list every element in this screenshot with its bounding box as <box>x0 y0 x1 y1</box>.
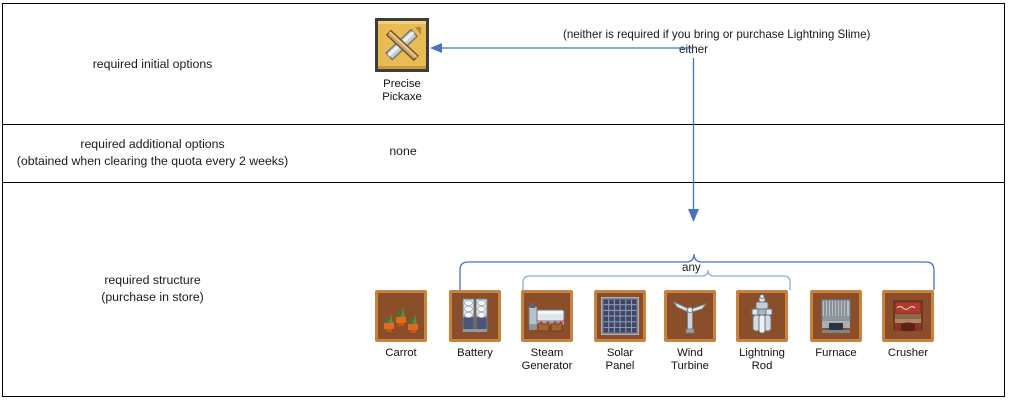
item-carrot[interactable]: Carrot <box>375 290 427 360</box>
precise-pickaxe-icon <box>375 18 429 72</box>
item-label: Wind Turbine <box>664 347 716 373</box>
solar-panel-icon <box>597 293 643 339</box>
lightning-rod-icon <box>739 293 785 339</box>
item-label: Solar Panel <box>594 347 646 373</box>
item-tile <box>810 290 862 342</box>
item-tile <box>736 290 788 342</box>
item-precise-pickaxe[interactable] <box>375 18 429 72</box>
item-label: Lightning Rod <box>736 347 788 373</box>
item-furnace[interactable]: Furnace <box>810 290 862 360</box>
item-steam-generator[interactable]: Steam Generator <box>521 290 573 373</box>
item-label-precise-pickaxe: Precise Pickaxe <box>370 78 434 104</box>
battery-icon <box>452 293 498 339</box>
item-label: Steam Generator <box>521 347 573 373</box>
item-tile <box>521 290 573 342</box>
item-label: Battery <box>449 347 501 360</box>
arrow-head-down <box>688 209 699 222</box>
item-solar-panel[interactable]: Solar Panel <box>594 290 646 373</box>
diagram-canvas: required initial options required additi… <box>0 0 1009 401</box>
item-label: Furnace <box>810 347 862 360</box>
item-label: Crusher <box>882 347 934 360</box>
item-wind-turbine[interactable]: Wind Turbine <box>664 290 716 373</box>
item-tile <box>375 290 427 342</box>
item-battery[interactable]: Battery <box>449 290 501 360</box>
carrot-icon <box>378 293 424 339</box>
item-tile <box>594 290 646 342</box>
item-label: Carrot <box>375 347 427 360</box>
crusher-icon <box>885 293 931 339</box>
item-tile <box>882 290 934 342</box>
arrow-head-left <box>430 43 442 53</box>
furnace-icon <box>813 293 859 339</box>
item-tile <box>449 290 501 342</box>
item-lightning-rod[interactable]: Lightning Rod <box>736 290 788 373</box>
item-tile <box>664 290 716 342</box>
item-crusher[interactable]: Crusher <box>882 290 934 360</box>
steam-generator-icon <box>524 293 570 339</box>
wind-turbine-icon <box>667 293 713 339</box>
